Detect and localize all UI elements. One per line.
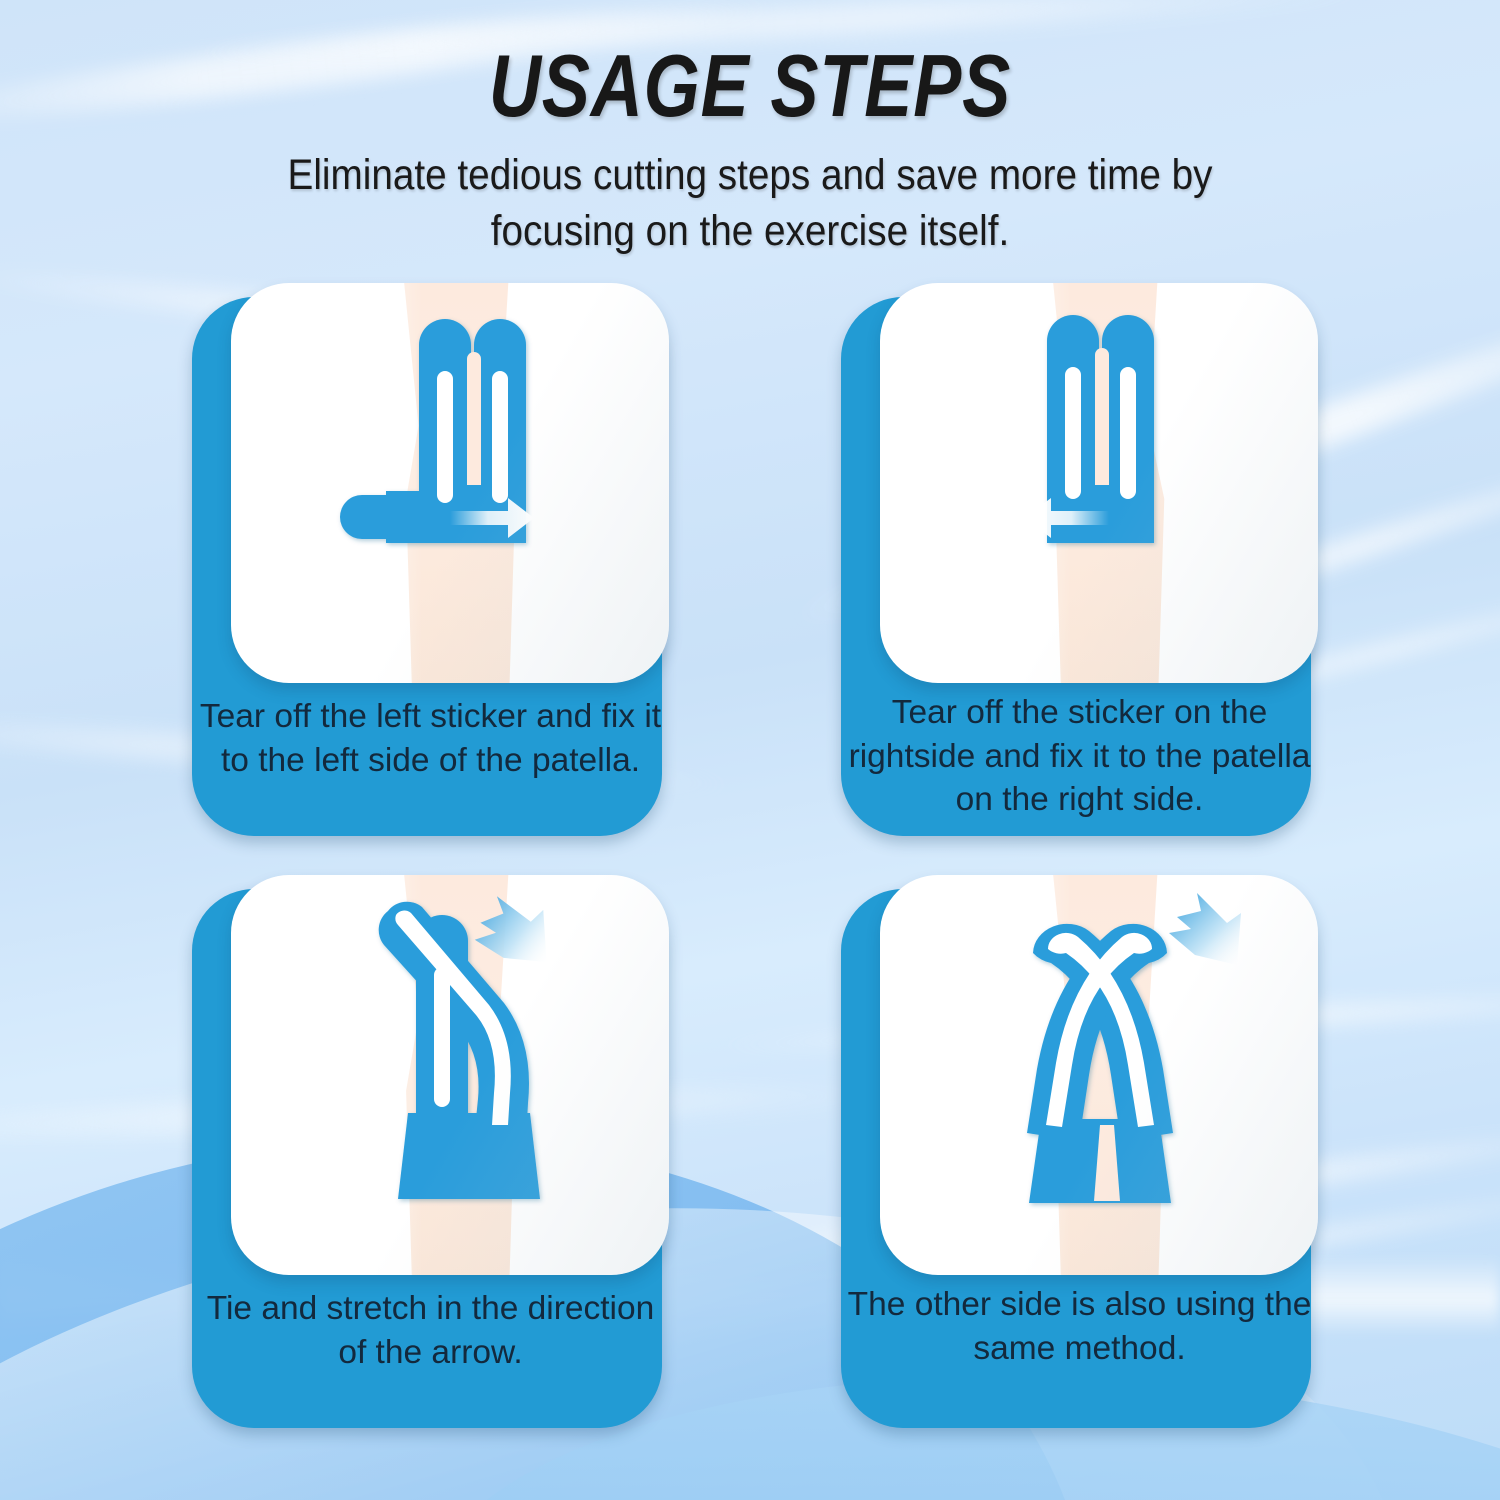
arrow-up-right-icon bbox=[1169, 893, 1241, 965]
page-subtitle: Eliminate tedious cutting steps and save… bbox=[282, 148, 1218, 260]
step-card-3[interactable]: Tie and stretch in the direction of the … bbox=[192, 875, 669, 1428]
steps-row: Tear off the left sticker and fix it to … bbox=[192, 283, 1312, 875]
arrow-up-left-icon bbox=[469, 890, 550, 971]
card-illustration-panel bbox=[880, 283, 1318, 683]
step-caption: The other side is also using the same me… bbox=[847, 1283, 1312, 1370]
steps-row: Tie and stretch in the direction of the … bbox=[192, 875, 1312, 1467]
step-card-2[interactable]: Tear off the sticker on the rightside an… bbox=[841, 283, 1318, 836]
step-1-illustration bbox=[231, 283, 669, 683]
card-illustration-panel bbox=[231, 283, 669, 683]
card-illustration-panel bbox=[880, 875, 1318, 1275]
card-illustration-panel bbox=[231, 875, 669, 1275]
usage-steps-infographic: USAGE STEPS Eliminate tedious cutting st… bbox=[0, 0, 1500, 1500]
step-caption: Tear off the left sticker and fix it to … bbox=[198, 695, 663, 782]
step-caption: Tie and stretch in the direction of the … bbox=[198, 1287, 663, 1374]
step-card-1[interactable]: Tear off the left sticker and fix it to … bbox=[192, 283, 669, 836]
header: USAGE STEPS Eliminate tedious cutting st… bbox=[0, 0, 1500, 260]
step-4-illustration bbox=[880, 875, 1318, 1275]
step-3-illustration bbox=[231, 875, 669, 1275]
step-caption: Tear off the sticker on the rightside an… bbox=[847, 691, 1312, 822]
page-title: USAGE STEPS bbox=[135, 0, 1365, 130]
steps-grid: Tear off the left sticker and fix it to … bbox=[192, 283, 1312, 1467]
step-2-illustration bbox=[880, 283, 1318, 683]
step-card-4[interactable]: The other side is also using the same me… bbox=[841, 875, 1318, 1428]
